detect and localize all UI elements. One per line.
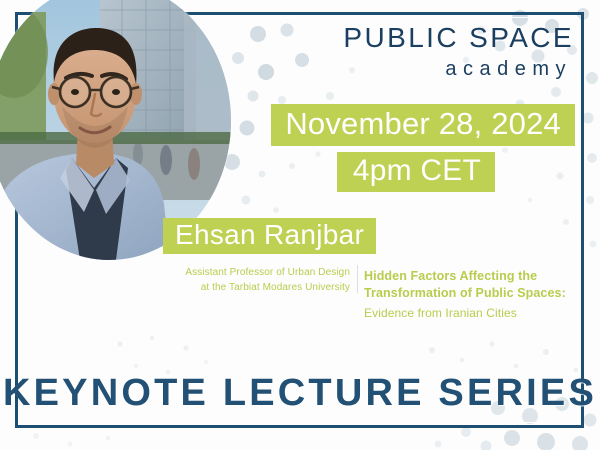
brand-name-secondary: academy <box>343 59 574 79</box>
event-date-badge: November 28, 2024 <box>271 104 575 146</box>
event-poster: PUBLIC SPACE academy November 28, 2024 4… <box>0 0 600 450</box>
speaker-credentials-line-1: Assistant Professor of Urban Design <box>168 266 350 281</box>
vertical-divider <box>357 265 358 293</box>
event-time-badge: 4pm CET <box>337 152 495 192</box>
speaker-credentials-line-2: at the Tarbiat Modares University <box>168 281 350 296</box>
keynote-series-banner: KEYNOTE LECTURE SERIES <box>0 372 600 415</box>
lecture-title-line-2: Transformation of Public Spaces: <box>364 285 576 302</box>
speaker-name-badge: Ehsan Ranjbar <box>163 218 376 254</box>
speaker-credentials: Assistant Professor of Urban Design at t… <box>168 266 350 295</box>
brand-lockup: PUBLIC SPACE academy <box>343 24 574 79</box>
lecture-title-block: Hidden Factors Affecting the Transformat… <box>364 268 576 321</box>
lecture-title-line-1: Hidden Factors Affecting the <box>364 268 576 285</box>
brand-name-primary: PUBLIC SPACE <box>343 24 574 52</box>
lecture-subtitle: Evidence from Iranian Cities <box>364 305 576 322</box>
